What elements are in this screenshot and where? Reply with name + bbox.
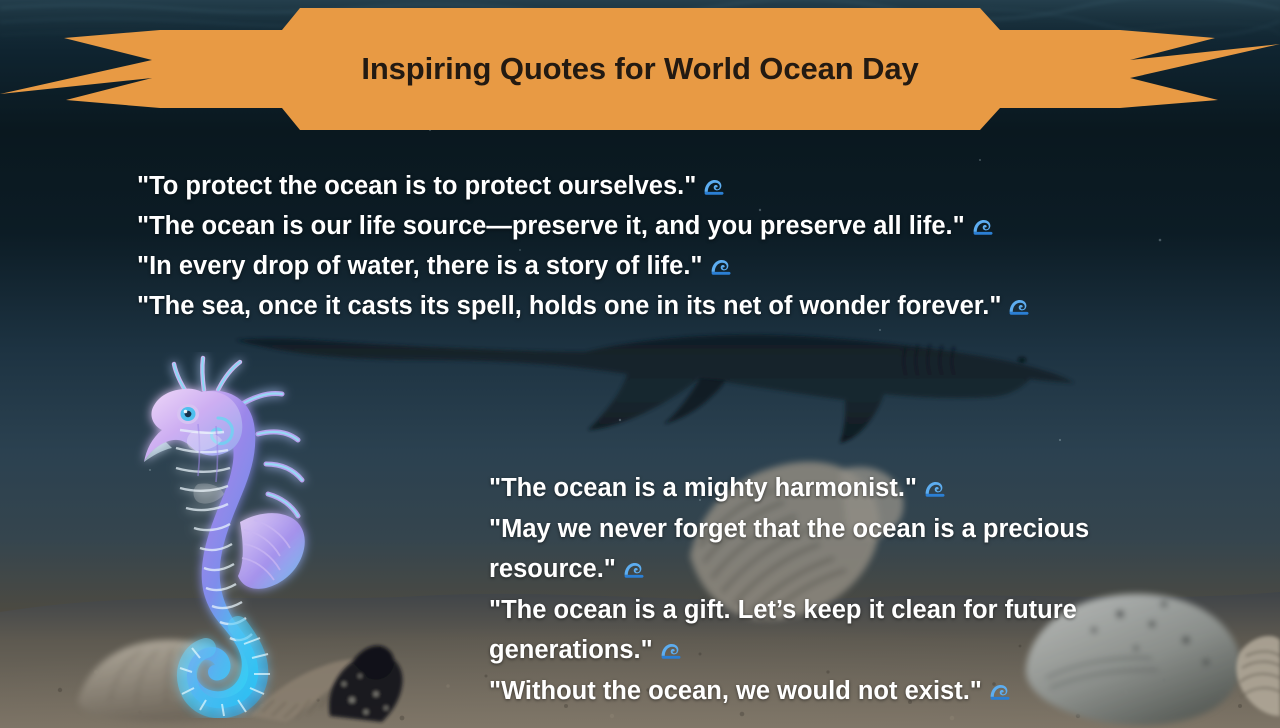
quote-text: "The ocean is a gift. Let’s keep it clea… xyxy=(489,596,1077,665)
wave-icon xyxy=(1006,292,1032,318)
wave-icon xyxy=(987,677,1013,703)
wave-icon xyxy=(701,172,727,198)
quote-item: "The ocean is a gift. Let’s keep it clea… xyxy=(489,590,1204,671)
wave-icon xyxy=(708,252,734,278)
quote-text: "The sea, once it casts its spell, holds… xyxy=(137,292,1001,320)
quote-item: "May we never forget that the ocean is a… xyxy=(489,509,1204,590)
quote-item: "Without the ocean, we would not exist." xyxy=(489,671,1204,712)
quote-text: "The ocean is our life source—preserve i… xyxy=(137,212,965,240)
title-banner: Inspiring Quotes for World Ocean Day xyxy=(0,8,1280,130)
wave-icon xyxy=(658,636,684,662)
quote-item: "The ocean is our life source—preserve i… xyxy=(137,206,1207,246)
quote-item: "In every drop of water, there is a stor… xyxy=(137,246,1207,286)
quotes-top-group: "To protect the ocean is to protect ours… xyxy=(137,166,1207,326)
quote-item: "The ocean is a mighty harmonist." xyxy=(489,468,1204,509)
quote-item: "The sea, once it casts its spell, holds… xyxy=(137,286,1207,326)
quote-text: "In every drop of water, there is a stor… xyxy=(137,252,703,280)
poster-canvas: Inspiring Quotes for World Ocean Day xyxy=(0,0,1280,728)
wave-icon xyxy=(621,555,647,581)
wave-icon xyxy=(970,212,996,238)
wave-icon xyxy=(922,474,948,500)
quote-text: "The ocean is a mighty harmonist." xyxy=(489,474,917,502)
quote-text: "To protect the ocean is to protect ours… xyxy=(137,172,696,200)
quote-text: "Without the ocean, we would not exist." xyxy=(489,677,982,705)
quote-text: "May we never forget that the ocean is a… xyxy=(489,515,1089,584)
quote-item: "To protect the ocean is to protect ours… xyxy=(137,166,1207,206)
seahorse-illustration xyxy=(132,352,340,718)
quotes-bottom-group: "The ocean is a mighty harmonist." "May … xyxy=(489,468,1204,711)
page-title: Inspiring Quotes for World Ocean Day xyxy=(0,8,1280,130)
seahorse-eye xyxy=(177,404,199,424)
